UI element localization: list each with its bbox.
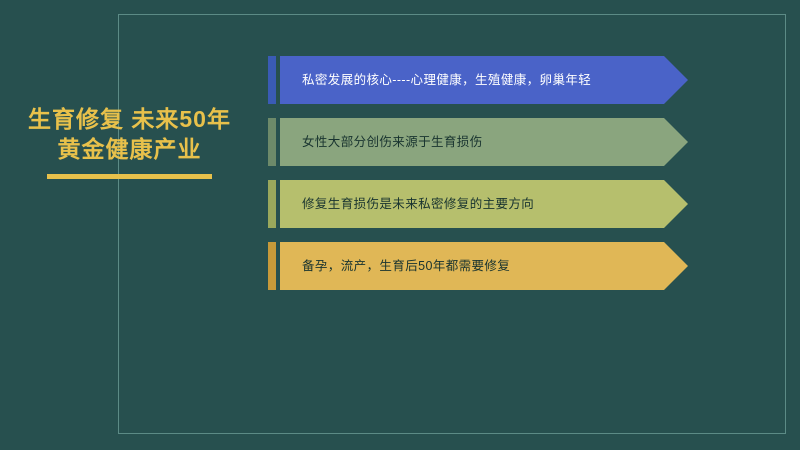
row-accent-bar-3	[268, 180, 276, 228]
slide: 生育修复 未来50年黄金健康产业 私密发展的核心----心理健康，生殖健康，卵巢…	[0, 0, 800, 450]
row-label-2: 女性大部分创伤来源于生育损伤	[302, 118, 483, 166]
row-body-3: 修复生育损伤是未来私密修复的主要方向	[280, 180, 688, 228]
row-label-3: 修复生育损伤是未来私密修复的主要方向	[302, 180, 534, 228]
row-body-1: 私密发展的核心----心理健康，生殖健康，卵巢年轻	[280, 56, 688, 104]
row-body-2: 女性大部分创伤来源于生育损伤	[280, 118, 688, 166]
row-label-4: 备孕，流产，生育后50年都需要修复	[302, 242, 510, 290]
list-item: 私密发展的核心----心理健康，生殖健康，卵巢年轻	[268, 56, 688, 104]
row-accent-bar-1	[268, 56, 276, 104]
slide-title-block: 生育修复 未来50年黄金健康产业	[22, 104, 237, 179]
row-body-4: 备孕，流产，生育后50年都需要修复	[280, 242, 688, 290]
row-label-1: 私密发展的核心----心理健康，生殖健康，卵巢年轻	[302, 56, 591, 104]
page-title: 生育修复 未来50年黄金健康产业	[22, 104, 237, 164]
list-item: 女性大部分创伤来源于生育损伤	[268, 118, 688, 166]
title-underline	[47, 174, 212, 179]
arrow-banner-list: 私密发展的核心----心理健康，生殖健康，卵巢年轻 女性大部分创伤来源于生育损伤…	[268, 56, 688, 304]
row-accent-bar-2	[268, 118, 276, 166]
list-item: 备孕，流产，生育后50年都需要修复	[268, 242, 688, 290]
row-accent-bar-4	[268, 242, 276, 290]
list-item: 修复生育损伤是未来私密修复的主要方向	[268, 180, 688, 228]
